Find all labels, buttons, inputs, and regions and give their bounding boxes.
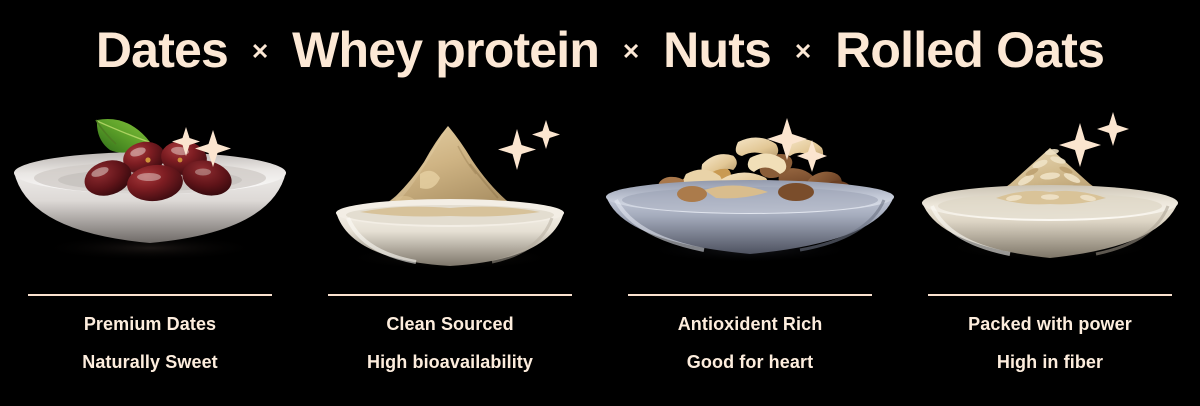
ingredient-column-rolled-oats: Packed with power High in fiber bbox=[900, 100, 1200, 406]
column-divider bbox=[928, 294, 1172, 296]
caption-group: Premium Dates Naturally Sweet bbox=[82, 315, 218, 371]
headline-word-whey-protein: Whey protein bbox=[292, 25, 599, 75]
ingredient-column-nuts: Antioxident Rich Good for heart bbox=[600, 100, 900, 406]
caption-line: Naturally Sweet bbox=[82, 353, 218, 371]
caption-line: Good for heart bbox=[687, 353, 813, 371]
ingredient-showcase-banner: Dates ✕ Whey protein ✕ Nuts ✕ Rolled Oat… bbox=[0, 0, 1200, 406]
column-divider bbox=[628, 294, 872, 296]
column-divider bbox=[328, 294, 572, 296]
caption-group: Packed with power High in fiber bbox=[968, 315, 1132, 371]
caption-line: Packed with power bbox=[968, 315, 1132, 333]
headline-word-nuts: Nuts bbox=[663, 25, 771, 75]
caption-line: Premium Dates bbox=[84, 315, 216, 333]
caption-group: Antioxident Rich Good for heart bbox=[678, 315, 823, 371]
headline-row: Dates ✕ Whey protein ✕ Nuts ✕ Rolled Oat… bbox=[0, 0, 1200, 100]
cross-separator-icon-2: ✕ bbox=[599, 41, 663, 63]
caption-line: Antioxident Rich bbox=[678, 315, 823, 333]
bowl-of-rolled-oats-image bbox=[900, 100, 1200, 278]
caption-line: Clean Sourced bbox=[386, 315, 513, 333]
headline-word-dates: Dates bbox=[96, 25, 228, 75]
column-divider bbox=[28, 294, 272, 296]
cross-separator-icon-3: ✕ bbox=[771, 41, 835, 63]
sparkle-icon-small bbox=[532, 120, 560, 149]
bowl-of-mixed-nuts-image bbox=[600, 100, 900, 278]
cross-separator-icon-1: ✕ bbox=[228, 41, 292, 63]
ingredient-column-whey-protein: Clean Sourced High bioavailability bbox=[300, 100, 600, 406]
ingredient-columns: Premium Dates Naturally Sweet bbox=[0, 100, 1200, 406]
bowl-of-whey-protein-powder-image bbox=[300, 100, 600, 278]
sparkle-icon-small bbox=[1097, 112, 1129, 146]
sparkle-icon-large bbox=[498, 129, 536, 170]
caption-line: High bioavailability bbox=[367, 353, 533, 371]
bowl-of-dates-with-leaf-image bbox=[0, 100, 300, 278]
sparkle-icon-large bbox=[1059, 123, 1101, 167]
caption-group: Clean Sourced High bioavailability bbox=[367, 315, 533, 371]
caption-line: High in fiber bbox=[997, 353, 1103, 371]
ingredient-column-dates: Premium Dates Naturally Sweet bbox=[0, 100, 300, 406]
headline-word-rolled-oats: Rolled Oats bbox=[835, 25, 1104, 75]
